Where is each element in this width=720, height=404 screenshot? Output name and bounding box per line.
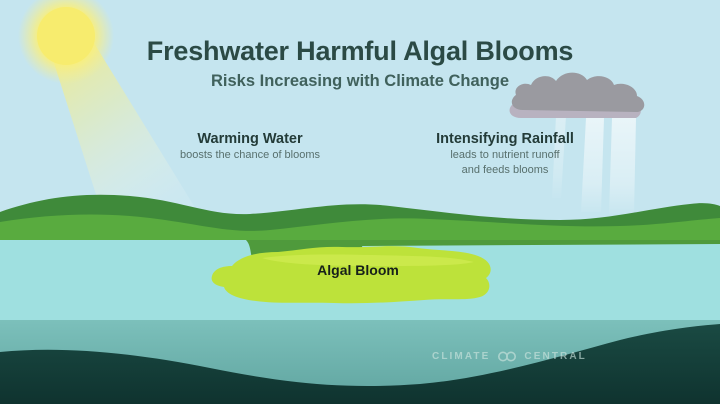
callout-intensifying-rainfall-sub-line1: leads to nutrient runoff bbox=[395, 148, 615, 163]
interlocking-rings-icon bbox=[496, 351, 518, 362]
callout-intensifying-rainfall: Intensifying Rainfall leads to nutrient … bbox=[395, 130, 615, 177]
callout-intensifying-rainfall-heading: Intensifying Rainfall bbox=[395, 130, 615, 148]
logo-word-central: CENTRAL bbox=[524, 351, 586, 362]
callout-intensifying-rainfall-sub-line2: and feeds blooms bbox=[395, 163, 615, 178]
logo-word-climate: CLIMATE bbox=[432, 351, 490, 362]
page-title: Freshwater Harmful Algal Blooms bbox=[0, 36, 720, 67]
callout-warming-water: Warming Water boosts the chance of bloom… bbox=[140, 130, 360, 163]
climate-central-logo[interactable]: CLIMATE CENTRAL bbox=[432, 350, 587, 363]
callout-warming-water-heading: Warming Water bbox=[140, 130, 360, 148]
callout-warming-water-sub-line1: boosts the chance of blooms bbox=[140, 148, 360, 163]
infographic-canvas: Freshwater Harmful Algal Blooms Risks In… bbox=[0, 0, 720, 404]
page-subtitle: Risks Increasing with Climate Change bbox=[0, 72, 720, 91]
algal-bloom-label: Algal Bloom bbox=[268, 262, 448, 278]
